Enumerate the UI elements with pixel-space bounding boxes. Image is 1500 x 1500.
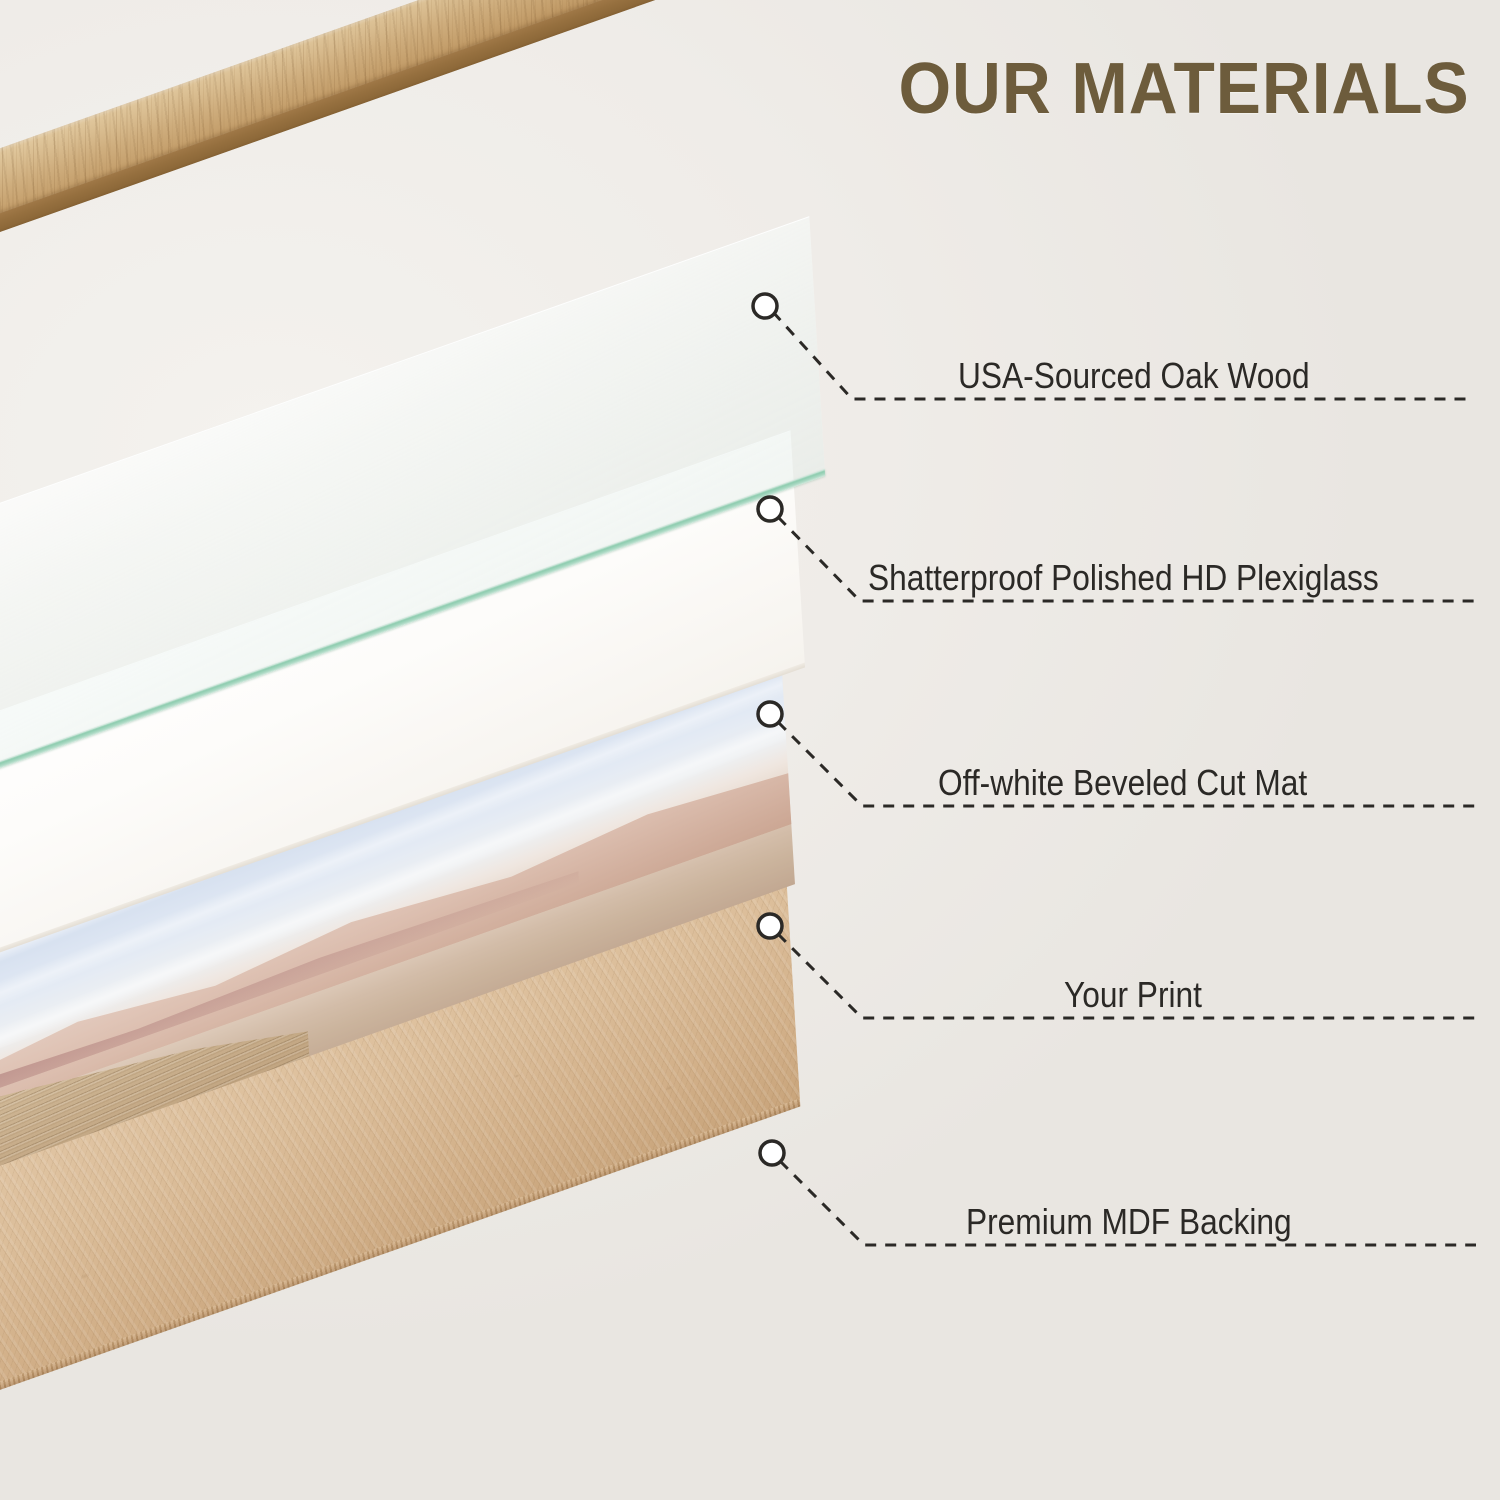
product-materials-infographic: OUR MATERIALS <box>0 0 1500 1500</box>
callout-marker-4[interactable] <box>758 914 782 938</box>
callout-marker-3[interactable] <box>758 702 782 726</box>
callout-marker-2[interactable] <box>758 497 782 521</box>
callout-label-plexiglass: Shatterproof Polished HD Plexiglass <box>868 557 1379 599</box>
callout-label-mat: Off-white Beveled Cut Mat <box>938 762 1307 804</box>
callout-label-oak-wood: USA-Sourced Oak Wood <box>958 355 1310 397</box>
callout-leader-lines <box>0 0 1500 1500</box>
callout-marker-1[interactable] <box>753 294 777 318</box>
callout-label-mdf-backing: Premium MDF Backing <box>966 1201 1292 1243</box>
callout-marker-5[interactable] <box>760 1141 784 1165</box>
callout-label-your-print: Your Print <box>1064 974 1202 1016</box>
